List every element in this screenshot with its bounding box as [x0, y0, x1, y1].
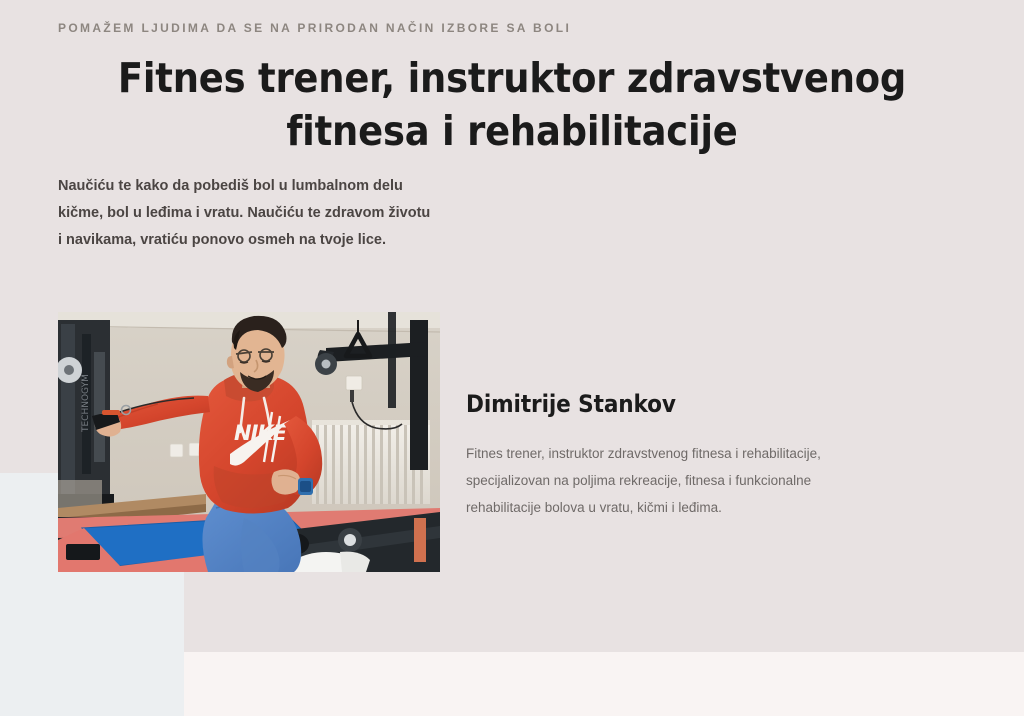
svg-text:TECHNOGYM: TECHNOGYM: [81, 374, 91, 433]
landing-page: POMAŽEM LJUDIMA DA SE NA PRIRODAN NAČIN …: [0, 0, 1024, 716]
page-title: Fitnes trener, instruktor zdravstvenog f…: [112, 52, 912, 158]
profile-description: Fitnes trener, instruktor zdravstvenog f…: [466, 440, 826, 521]
profile-name: Dimitrije Stankov: [466, 390, 826, 418]
decorative-block-cream: [184, 652, 1024, 716]
hero-intro-text: Naučiću te kako da pobediš bol u lumbaln…: [58, 173, 436, 254]
profile-bio: Dimitrije Stankov Fitnes trener, instruk…: [466, 390, 826, 521]
hero-eyebrow: POMAŽEM LJUDIMA DA SE NA PRIRODAN NAČIN …: [58, 21, 571, 35]
trainer-photo: TECHNOGYM: [58, 312, 440, 572]
trainer-photo-illustration: TECHNOGYM: [58, 312, 440, 572]
